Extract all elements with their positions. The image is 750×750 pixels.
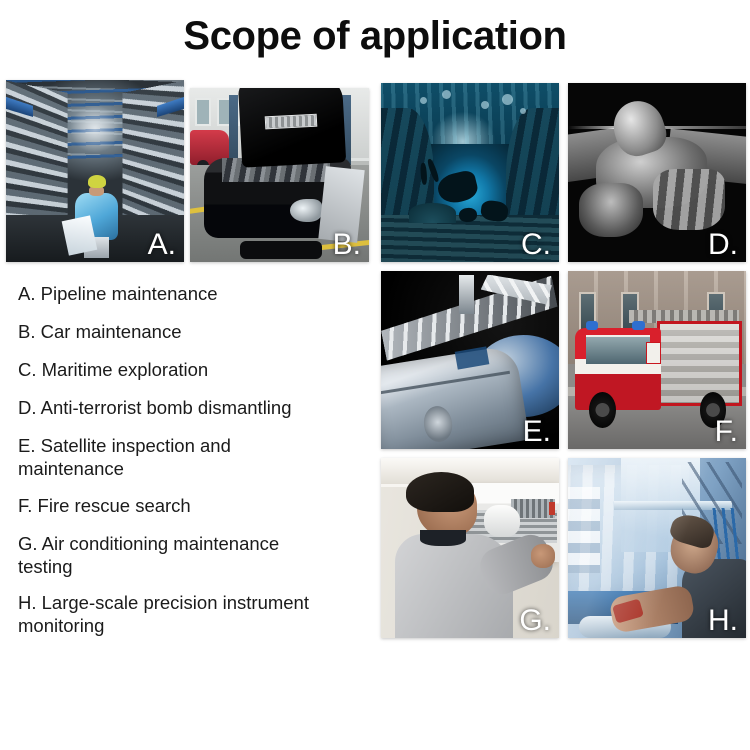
tile-label-a: A. [148,230,176,260]
pipeline-left-bank [6,80,68,236]
white-work-glove [484,505,520,537]
image-tile-g: G. [381,458,559,638]
front-wheel [589,392,616,428]
tile-label-e: E. [523,417,551,447]
image-tile-a: A. [6,80,184,262]
cab-windshield [586,335,650,363]
caption-b: B. Car maintenance [18,321,376,344]
car-bumper [240,241,322,258]
image-tile-h: H. [568,458,746,638]
pipeline-blue-conduit-left [6,96,33,118]
pipeline-worker [74,175,120,259]
ac-red-indicator [549,502,555,515]
tile-label-g: G. [519,606,551,636]
tile-label-b: B. [333,230,361,260]
fire-department-emblem [646,342,660,363]
tile-label-c: C. [521,230,551,260]
worker-hard-hat [88,175,107,188]
scope-of-application-panel: Scope of application A. [0,0,750,750]
caption-h: H. Large-scale precision instrument moni… [18,592,376,638]
shirt-collar [420,530,466,546]
page-title: Scope of application [0,14,750,59]
car-open-hood [238,88,346,167]
tile-label-d: D. [708,230,738,260]
pipeline-light-glow [70,105,120,152]
hood-insulation-tag [265,113,318,130]
antenna [459,275,473,314]
caption-list: A. Pipeline maintenance B. Car maintenan… [18,283,376,653]
image-tile-f: F. [568,271,746,449]
tile-label-h: H. [708,606,738,636]
pipeline-blue-conduit-right [157,96,184,118]
caption-e: E. Satellite inspection and maintenance [18,435,376,481]
knuckles [579,183,643,237]
air-bubble [520,108,526,114]
technician-hair [406,472,474,512]
garage-window [195,98,211,126]
tile-label-f: F. [715,417,738,447]
pipeline-right-bank [122,80,184,236]
image-tile-c: C. [381,83,559,262]
air-bubble [442,90,451,99]
technician-hand [531,544,556,567]
caption-c: C. Maritime exploration [18,359,376,382]
air-bubble [481,101,489,109]
fire-truck-equipment-body [657,321,742,406]
caption-f: F. Fire rescue search [18,495,376,518]
blue-beacon-light [586,321,598,330]
caption-a: A. Pipeline maintenance [18,283,376,306]
air-bubble [502,94,513,105]
sea-floor-rock [409,203,455,223]
image-tile-d: D. [568,83,746,262]
image-tile-b: B. [190,88,369,262]
car-headlight [290,199,322,222]
blue-beacon-light [632,321,644,330]
fingers [653,169,724,230]
caption-d: D. Anti-terrorist bomb dismantling [18,397,376,420]
image-tile-e: E. [381,271,559,449]
caption-g: G. Air conditioning maintenance testing [18,533,376,579]
